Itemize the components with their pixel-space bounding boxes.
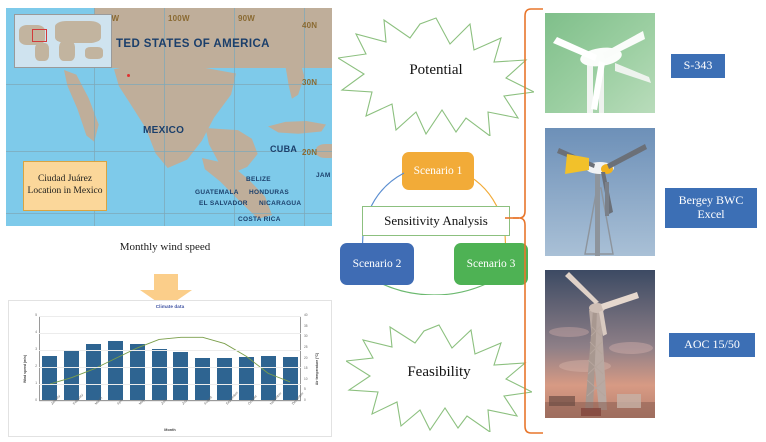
map-label-el-salvador: EL SALVADOR [199,200,248,207]
chart-y-axis-label-left: Wind speed (m/s) [23,354,27,382]
map-coord-20n: 20N [302,148,317,157]
inset-landmass [59,41,75,61]
chart-y-tick: 3 [30,347,37,351]
mexico-map: 110W 100W 90W 40N 30N 20N TED STATES OF … [6,8,332,226]
chart-y-tick: 1 [30,381,37,385]
chart-x-axis-label: Month [9,428,331,432]
inset-highlight-box [32,29,47,42]
chart-y-tick: 0 [30,398,37,402]
chart-y-tick-right: 25 [304,345,308,349]
monthly-wind-speed-label: Monthly wind speed [112,241,218,254]
map-label-jamaica: JAM [316,172,331,179]
chart-gridline [39,316,301,317]
chart-title: Climate data [9,304,331,309]
chart-temperature-line [39,316,301,401]
inset-landmass [55,21,101,43]
map-landmass-cuba [268,120,326,136]
map-landmass-baja [64,70,120,148]
map-label-costa-rica: COSTA RICA [238,216,281,223]
chart-plot-area [39,316,301,401]
map-gridline [304,8,305,226]
map-label-cuba: CUBA [270,144,297,154]
map-legend-caption: Ciudad Juárez Location in Mexico [23,161,107,211]
turbine-tag-s343: S-343 [671,54,725,78]
chart-y-tick: 2 [30,364,37,368]
map-label-usa: TED STATES OF AMERICA [116,38,270,50]
turbine-tag-bergey: Bergey BWC Excel [665,188,757,228]
turbine-photo-s343 [545,13,655,113]
chart-y-tick: 4 [30,330,37,334]
map-label-mexico: MEXICO [143,125,184,136]
climate-chart: Climate data Wind speed (m/s) Air temper… [8,300,332,437]
turbine-group-bracket [505,6,550,436]
juarez-location-marker [127,74,130,77]
map-gridline [6,213,332,214]
map-gridline [6,84,332,85]
map-coord-90w: 90W [238,14,255,23]
chart-y-tick-right: 0 [304,398,306,402]
scenario-2-node[interactable]: Scenario 2 [340,243,414,285]
chart-y-tick-right: 30 [304,334,308,338]
poster-canvas: 110W 100W 90W 40N 30N 20N TED STATES OF … [0,0,766,442]
chart-y-tick: 5 [30,313,37,317]
chart-x-tick: July [181,399,188,406]
map-coord-30n: 30N [302,78,317,87]
map-label-honduras: HONDURAS [249,189,289,196]
inset-landmass [35,43,49,61]
chart-y-tick-right: 15 [304,366,308,370]
chart-y-tick-right: 40 [304,313,308,317]
turbine-photo-aoc [545,270,655,418]
map-coord-40n: 40N [302,21,317,30]
map-coord-100w: 100W [168,14,190,23]
turbine-photo-bergey [545,128,655,256]
map-label-belize: BELIZE [246,176,271,183]
chart-y-tick-right: 35 [304,324,308,328]
chart-y-tick-right: 5 [304,387,306,391]
chart-gridline [39,333,301,334]
chart-gridline [39,367,301,368]
map-label-guatemala: GUATEMALA [195,189,239,196]
chart-gridline [39,384,301,385]
map-label-nicaragua: NICARAGUA [259,200,301,207]
chart-y-tick-right: 10 [304,377,308,381]
inset-landmass [85,47,103,59]
sensitivity-analysis-box: Sensitivity Analysis [362,206,510,236]
turbine-tag-aoc: AOC 15/50 [669,333,755,357]
chart-y-axis-label-right: Air temperature (°C) [315,352,319,384]
chart-gridline [39,350,301,351]
chart-y-tick-right: 20 [304,356,308,360]
world-inset-map [14,14,112,68]
